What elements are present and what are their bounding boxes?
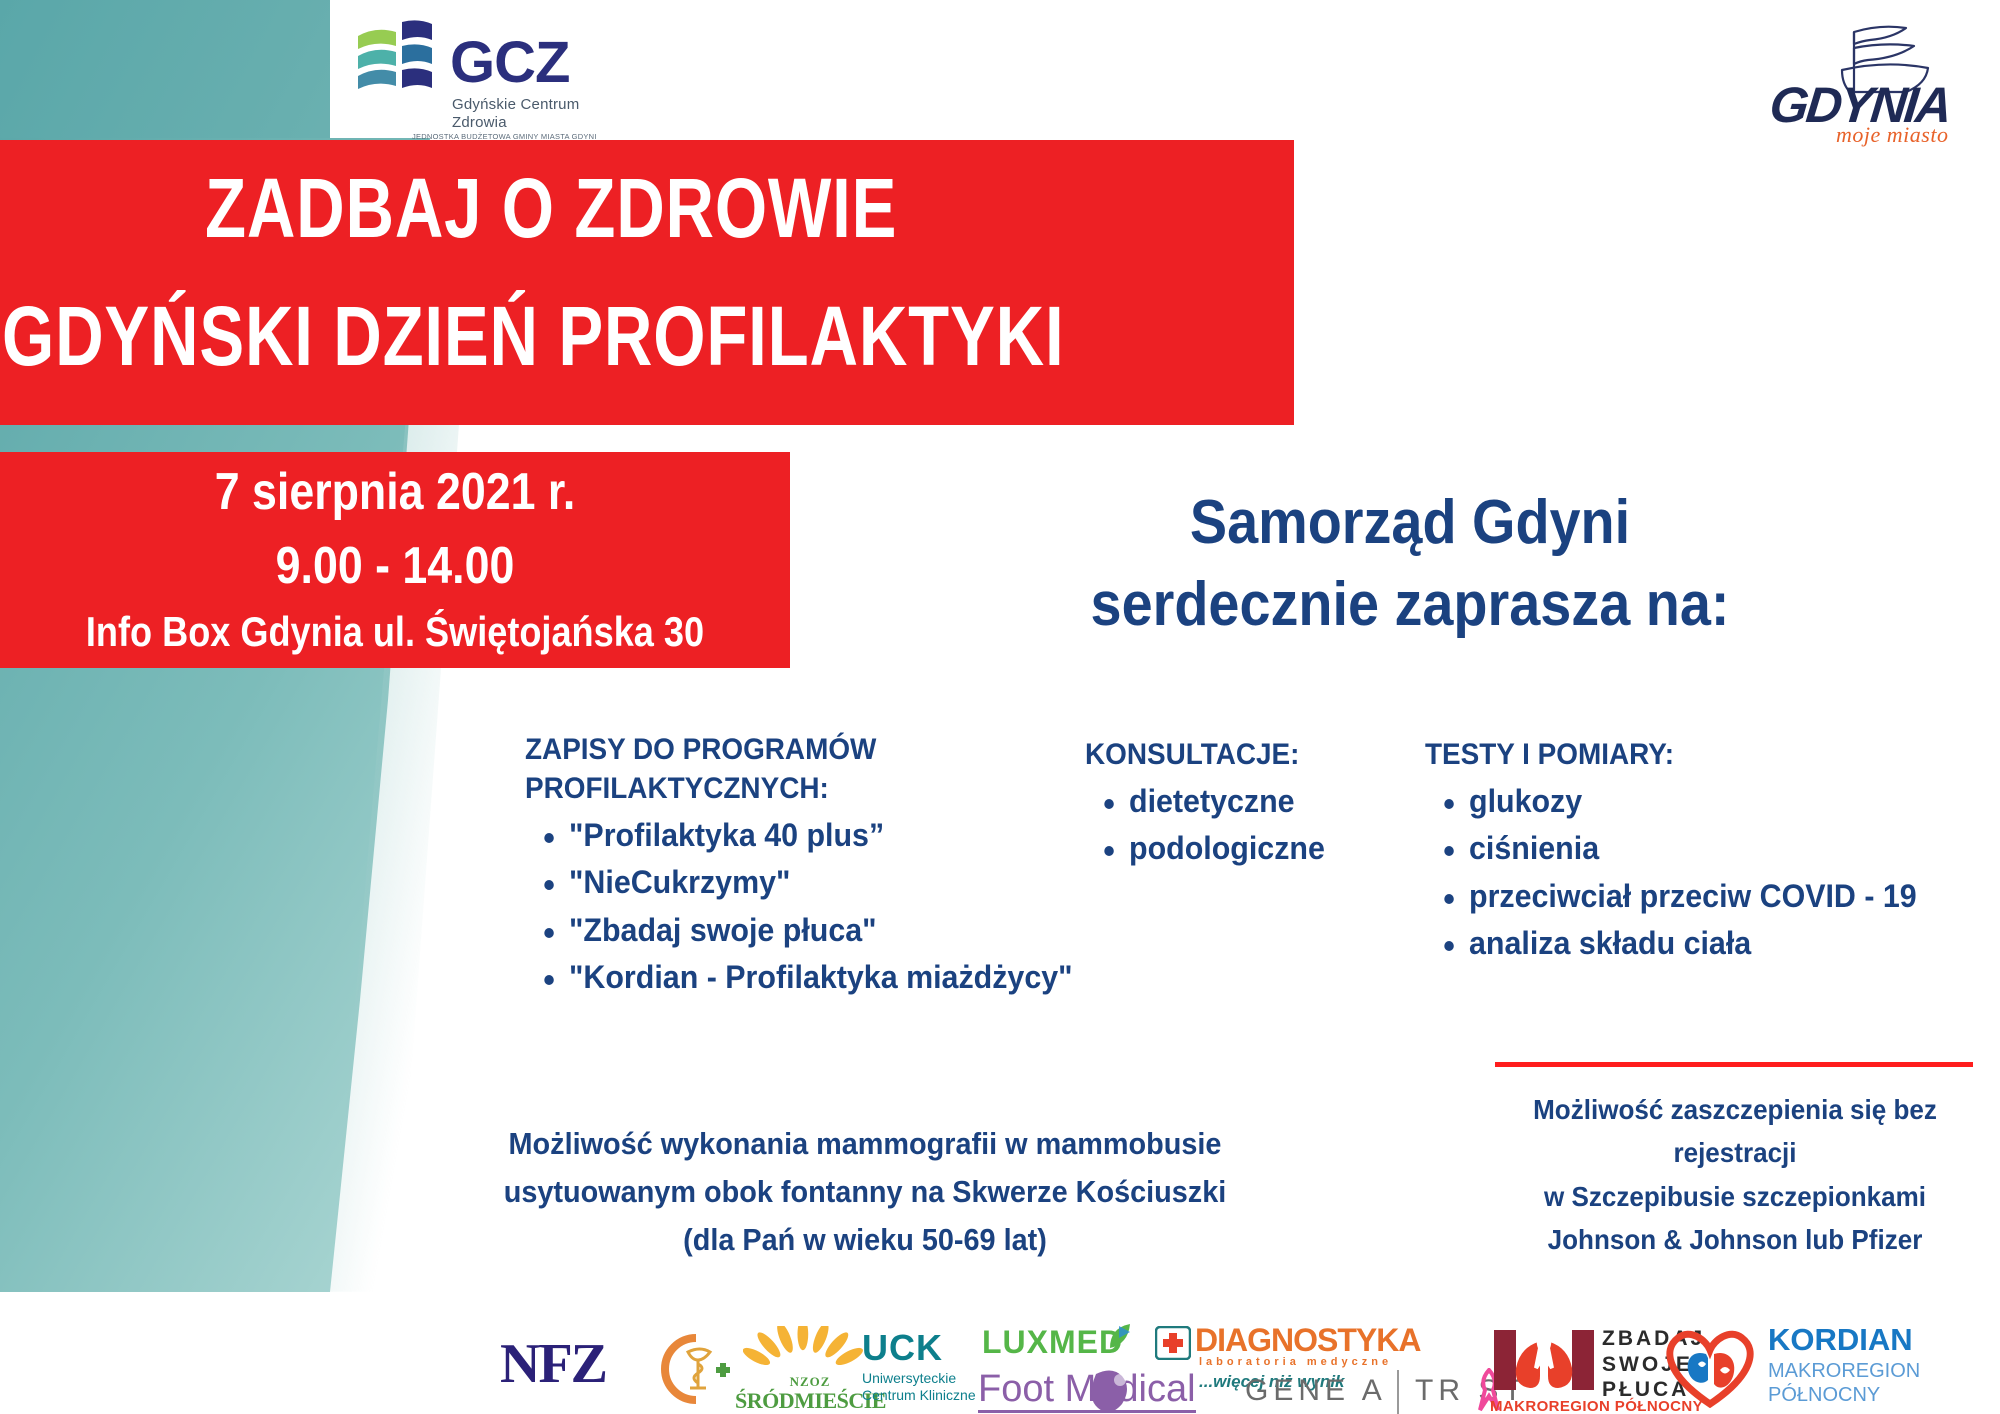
kordian-wordmark: KORDIAN [1768,1324,2000,1355]
invitation-headline: Samorząd Gdyni serdecznie zaprasza na: [1005,482,1815,646]
gcz-mark-icon [352,16,444,104]
list-item: "NieCukrzymy" [569,859,1116,906]
geneva-wordmark: GENE A [1245,1374,1387,1407]
luxmed-logo: LUXMED [982,1326,1142,1358]
nfz-wordmark: NFZ [500,1333,606,1395]
list-item: glukozy [1469,778,1940,825]
diagnostyka-wordmark: DIAGNOSTYKA [1195,1324,1420,1356]
kordian-logo: KORDIAN MAKROREGION PÓŁNOCNY [1768,1324,2000,1407]
lungs-icon [1490,1324,1598,1396]
medical-cross-icon [1155,1326,1191,1360]
list-item: "Zbadaj swoje płuca" [569,907,1116,954]
column-consultations: KONSULTACJE: dietetyczne podologiczne [1085,735,1415,873]
column-tests-list: glukozy ciśnienia przeciwciał przeciw CO… [1425,778,1965,967]
pharmacy-logo-icon [648,1330,738,1408]
diagnostyka-subtitle: laboratoria medyczne [1199,1356,1392,1368]
title-line-1: ZADBAJ O ZDROWIE [205,160,897,257]
title-line-2: GDYŃSKI DZIEŃ PROFILAKTYKI [2,288,1064,385]
vaccination-note: Możliwość zaszczepienia się bez rejestra… [1507,1088,1963,1262]
event-venue: Info Box Gdynia ul. Świętojańska 30 [55,608,734,656]
leaf-icon [1106,1322,1132,1350]
event-date: 7 sierpnia 2021 r. [55,462,734,522]
column-programs-heading: ZAPISY DO PROGRAMÓW PROFILAKTYCZNYCH: [525,730,1102,808]
logo-divider [1397,1370,1399,1414]
column-programs-list: "Profilaktyka 40 plus” "NieCukrzymy" "Zb… [525,812,1145,1001]
event-details-banner: 7 sierpnia 2021 r. 9.00 - 14.00 Info Box… [0,452,790,668]
kordian-subtitle: MAKROREGION PÓŁNOCNY [1768,1359,2000,1407]
list-item: dietetyczne [1129,778,1401,825]
footprint-icon [1082,1366,1138,1414]
red-divider-rule [1495,1062,1973,1067]
list-item: "Profilaktyka 40 plus” [569,812,1116,859]
list-item: "Kordian - Profilaktyka miażdżycy" [569,954,1116,1001]
gcz-name: Gdyńskie Centrum Zdrowia [452,96,579,131]
heart-hands-icon [1658,1324,1763,1408]
list-item: przeciwciał przeciw COVID - 19 [1469,873,1940,920]
list-item: ciśnienia [1469,825,1940,872]
mammography-note: Możliwość wykonania mammografii w mammob… [498,1120,1233,1264]
gdynia-logo: GDYNIA moje miasto [1770,18,1980,148]
nfz-logo: NFZ [500,1332,606,1396]
gcz-logo: GCZ Gdyńskie Centrum Zdrowia JEDNOSTKA B… [352,10,652,130]
gcz-acronym: GCZ [450,34,569,92]
event-time: 9.00 - 14.00 [55,536,734,596]
list-item: analiza składu ciała [1469,920,1940,967]
column-tests: TESTY I POMIARY: glukozy ciśnienia przec… [1425,735,1965,967]
column-consultations-heading: KONSULTACJE: [1085,735,1392,774]
column-programs: ZAPISY DO PROGRAMÓW PROFILAKTYCZNYCH: "P… [525,730,1145,1001]
column-tests-heading: TESTY I POMIARY: [1425,735,1927,774]
sunflower-icon [743,1326,877,1378]
uck-acronym: UCK [862,1330,1002,1366]
title-banner: ZADBAJ O ZDROWIE GDYŃSKI DZIEŃ PROFILAKT… [0,140,1294,425]
sponsor-logo-strip: NFZ N [0,1318,2000,1414]
column-consultations-list: dietetyczne podologiczne [1085,778,1415,873]
poster-root: GCZ Gdyńskie Centrum Zdrowia JEDNOSTKA B… [0,0,2000,1414]
list-item: podologiczne [1129,825,1401,872]
gdynia-tagline: moje miasto [1836,122,1948,148]
